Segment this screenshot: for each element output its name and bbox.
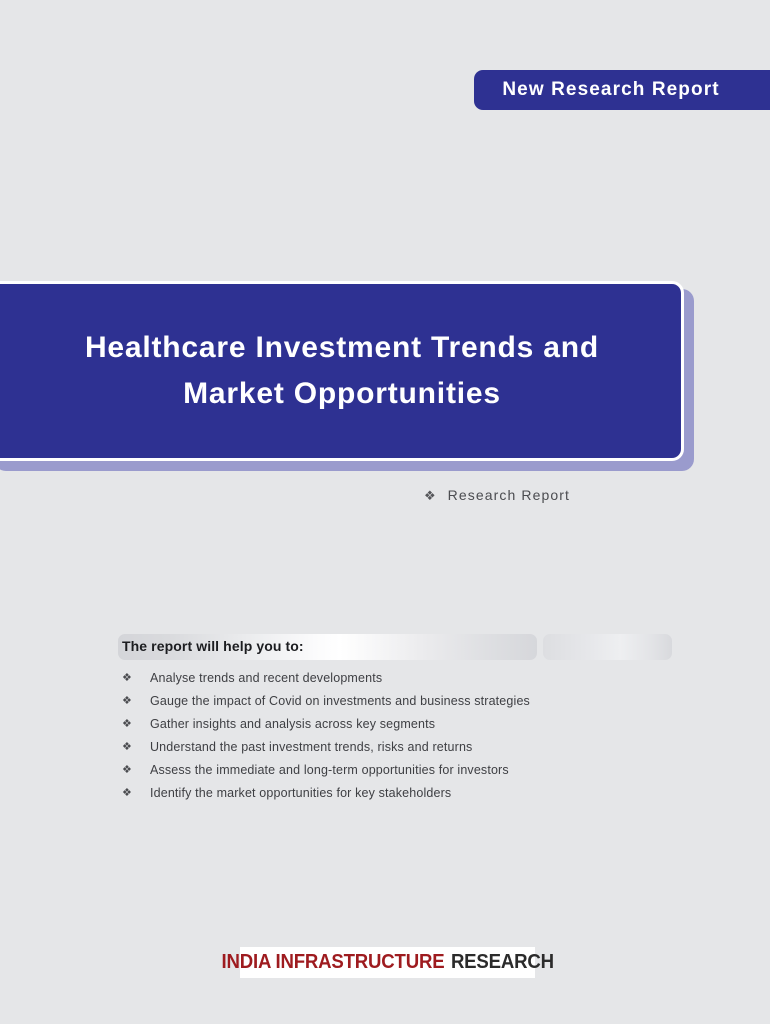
list-item: ❖ Assess the immediate and long-term opp… [122,760,682,783]
help-heading-label: The report will help you to: [122,638,304,654]
diamond-bullet-icon: ❖ [122,691,150,711]
subtitle-row: ❖ Research Report [424,487,570,504]
subtitle-label: Research Report [448,487,570,503]
new-research-report-banner: New Research Report [474,70,770,110]
india-infrastructure-research-logo: INDIA INFRASTRUCTURERESEARCH [240,947,535,978]
help-banner-bar-secondary [543,634,672,660]
list-item-label: Assess the immediate and long-term oppor… [150,760,509,780]
list-item-label: Gather insights and analysis across key … [150,714,435,734]
page-title-line-1: Healthcare Investment Trends and [71,325,599,371]
diamond-bullet-icon: ❖ [122,737,150,757]
logo-secondary-text: RESEARCH [451,951,554,973]
diamond-bullet-icon: ❖ [424,488,436,504]
report-cover-page: New Research Report Healthcare Investmen… [0,0,770,1024]
banner-label: New Research Report [502,79,719,101]
list-item: ❖ Gather insights and analysis across ke… [122,714,682,737]
title-box: Healthcare Investment Trends and Market … [0,281,684,461]
diamond-bullet-icon: ❖ [122,714,150,734]
list-item: ❖ Gauge the impact of Covid on investmen… [122,691,682,714]
diamond-bullet-icon: ❖ [122,760,150,780]
help-bullet-list: ❖ Analyse trends and recent developments… [122,668,682,806]
list-item: ❖ Identify the market opportunities for … [122,783,682,806]
logo-primary-text: INDIA INFRASTRUCTURE [221,951,444,973]
diamond-bullet-icon: ❖ [122,668,150,688]
list-item-label: Gauge the impact of Covid on investments… [150,691,530,711]
list-item-label: Analyse trends and recent developments [150,668,382,688]
diamond-bullet-icon: ❖ [122,783,150,803]
list-item-label: Understand the past investment trends, r… [150,737,472,757]
list-item: ❖ Understand the past investment trends,… [122,737,682,760]
list-item-label: Identify the market opportunities for ke… [150,783,451,803]
list-item: ❖ Analyse trends and recent developments [122,668,682,691]
logo-text: INDIA INFRASTRUCTURERESEARCH [221,951,553,974]
page-title-line-2: Market Opportunities [169,371,501,417]
title-block: Healthcare Investment Trends and Market … [0,281,694,471]
